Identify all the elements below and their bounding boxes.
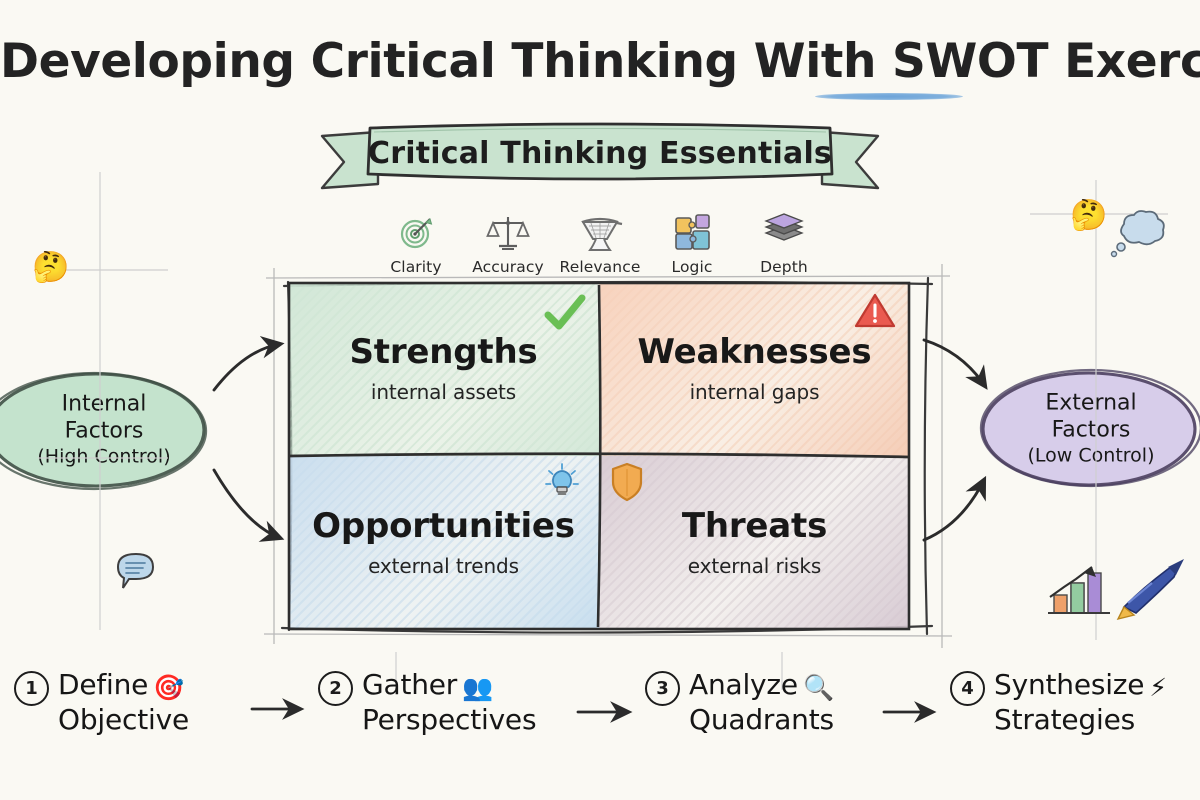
process-steps: 1 Define🎯 Objective 2 Gather👥 Perspectiv… <box>0 662 1200 772</box>
thinking-face-icon: 🤔 <box>32 250 69 285</box>
step-1[interactable]: 1 Define🎯 Objective <box>14 668 189 736</box>
target-emoji: 🎯 <box>153 673 184 702</box>
quadrant-weaknesses[interactable]: Weaknesses internal gaps <box>599 282 910 456</box>
step-line2: Perspectives <box>362 703 536 736</box>
target-icon <box>396 211 436 255</box>
step-number: 4 <box>950 671 985 706</box>
right-node-line2: Factors <box>1052 417 1131 442</box>
step-number: 1 <box>14 671 49 706</box>
left-factor-node[interactable]: Internal Factors (High Control) <box>0 370 224 490</box>
step-4[interactable]: 4 Synthesize⚡ Strategies <box>950 668 1167 736</box>
left-node-line1: Internal <box>62 392 147 417</box>
step-line2: Objective <box>58 703 189 736</box>
quadrant-title: Weaknesses <box>638 335 872 369</box>
step-line2: Quadrants <box>689 703 834 736</box>
people-emoji: 👥 <box>462 673 493 702</box>
quadrant-title: Strengths <box>349 335 537 369</box>
thinking-face-icon: 🤔 <box>1070 198 1107 233</box>
step-line1: Synthesize <box>994 668 1144 701</box>
right-node-line3: (Low Control) <box>975 444 1200 467</box>
check-mark-icon <box>543 294 587 334</box>
step-2[interactable]: 2 Gather👥 Perspectives <box>318 668 536 736</box>
banner-label: Critical Thinking Essentials <box>312 136 888 171</box>
step-line1: Gather <box>362 668 457 701</box>
warning-triangle-icon <box>854 292 896 330</box>
quadrant-opportunities[interactable]: Opportunities external trends <box>288 456 599 630</box>
left-node-line3: (High Control) <box>0 445 224 468</box>
swot-underline <box>815 93 963 100</box>
right-node-line1: External <box>1045 391 1136 416</box>
step-text: Synthesize⚡ Strategies <box>994 668 1167 736</box>
quadrant-threats[interactable]: Threats external risks <box>599 456 910 630</box>
step-text: Gather👥 Perspectives <box>362 668 536 736</box>
quadrant-subtitle: internal gaps <box>690 380 820 404</box>
quadrant-title: Threats <box>682 509 827 543</box>
puzzle-icon <box>671 211 713 255</box>
right-factor-label: External Factors (Low Control) <box>975 391 1200 468</box>
swot-matrix: Strengths internal assets Weaknesses int… <box>288 282 910 630</box>
left-factor-label: Internal Factors (High Control) <box>0 392 238 469</box>
scales-icon <box>486 211 530 255</box>
thought-bubble-icon <box>1104 208 1168 260</box>
magnifier-emoji: 🔍 <box>803 673 834 702</box>
banner-ribbon: Critical Thinking Essentials <box>312 122 888 194</box>
step-text: Define🎯 Objective <box>58 668 189 736</box>
growth-chart-icon <box>1040 545 1190 625</box>
step-line2: Strategies <box>994 703 1135 736</box>
left-node-line2: Factors <box>65 418 144 443</box>
step-line1: Analyze <box>689 668 798 701</box>
lightbulb-icon <box>543 462 581 502</box>
step-text: Analyze🔍 Quadrants <box>689 668 834 736</box>
speech-bubble-icon <box>113 550 159 594</box>
step-line1: Define <box>58 668 148 701</box>
sieve-icon <box>577 211 623 255</box>
quadrant-subtitle: external trends <box>368 554 519 578</box>
shield-icon <box>609 461 645 503</box>
page-title: Developing Critical Thinking With SWOT E… <box>0 34 1200 89</box>
right-factor-node[interactable]: External Factors (Low Control) <box>975 368 1200 490</box>
quadrant-subtitle: external risks <box>688 554 821 578</box>
quadrant-strengths[interactable]: Strengths internal assets <box>288 282 599 456</box>
infographic-canvas: Developing Critical Thinking With SWOT E… <box>0 0 1200 800</box>
step-3[interactable]: 3 Analyze🔍 Quadrants <box>645 668 834 736</box>
step-number: 3 <box>645 671 680 706</box>
lightning-emoji: ⚡ <box>1149 673 1166 702</box>
layers-icon <box>762 211 806 255</box>
step-number: 2 <box>318 671 353 706</box>
quadrant-title: Opportunities <box>312 509 575 543</box>
quadrant-subtitle: internal assets <box>371 380 516 404</box>
